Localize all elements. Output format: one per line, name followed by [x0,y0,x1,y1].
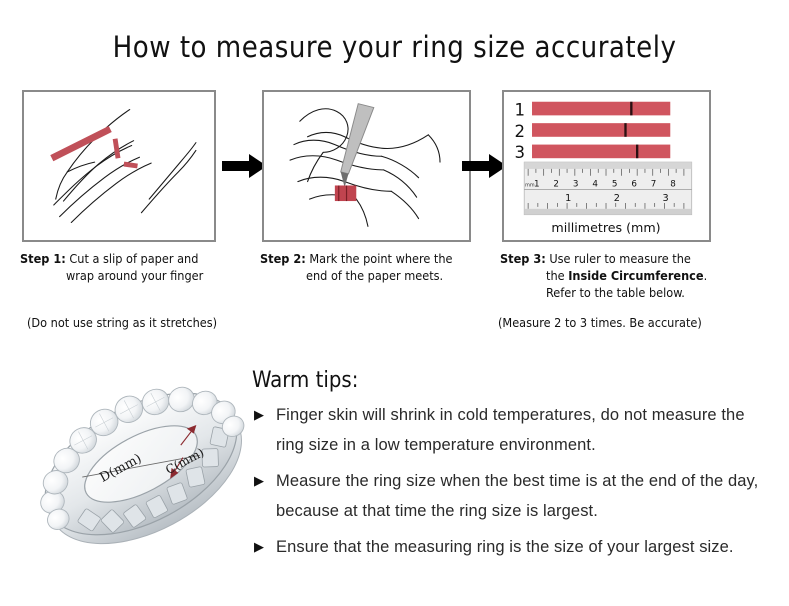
ruler-caption: millimetres (mm) [551,220,660,235]
svg-text:1: 1 [565,193,571,204]
step-1-panel [22,90,216,242]
svg-text:6: 6 [631,179,637,189]
svg-text:2: 2 [614,193,620,204]
step-1-line1: Cut a slip of paper and [69,251,198,266]
page-title: How to measure your ring size accurately [0,30,789,64]
warm-tips-heading: Warm tips: [252,368,358,393]
step-3-bold-phrase: Inside Circumference [568,268,703,283]
svg-text:4: 4 [592,179,598,189]
strip-number-2: 2 [514,122,525,141]
step-2-line1: Mark the point where the [309,251,452,266]
step-1-caption: Step 1: Cut a slip of paper and wrap aro… [20,250,255,284]
step-3-line1: Use ruler to measure the [549,251,691,266]
svg-text:8: 8 [670,179,676,189]
hand-marking-paper-with-pen-illustration [264,92,469,240]
step-3-line2-pre: the [546,268,568,283]
step-3-panel: 1 2 3 [502,90,711,242]
measured-strips: 1 2 3 [514,100,670,162]
step-3-note: (Measure 2 to 3 times. Be accurate) [498,315,702,330]
strip-number-1: 1 [514,100,525,119]
svg-text:3: 3 [573,179,579,189]
list-item: ▶ Ensure that the measuring ring is the … [252,532,772,562]
eternity-ring-photo: D(mm) C(mm) [22,352,260,584]
step-3-caption: Step 3: Use ruler to measure the the Ins… [500,250,750,301]
list-item: ▶ Finger skin will shrink in cold temper… [252,400,772,460]
hand-with-paper-strip-illustration [24,92,214,240]
mm-unit-label: mm [525,182,535,188]
tip-text: Finger skin will shrink in cold temperat… [276,406,745,454]
step-1-note: (Do not use string as it stretches) [27,315,217,330]
tip-text: Ensure that the measuring ring is the si… [276,538,734,556]
triangle-right-icon: ▶ [254,532,264,562]
step-3-label: Step 3: [500,251,546,266]
step-3-line2: the Inside Circumference. [500,267,750,284]
step-1-line2: wrap around your finger [20,267,255,284]
svg-text:1: 1 [534,179,540,189]
step-1-label: Step 1: [20,251,66,266]
svg-text:2: 2 [553,179,559,189]
svg-text:3: 3 [662,193,668,204]
step-3-line3: Refer to the table below. [500,284,750,301]
step-2-caption: Step 2: Mark the point where the end of … [260,250,495,284]
triangle-right-icon: ▶ [254,466,264,496]
ruler-with-measured-strips-illustration: 1 2 3 [504,92,709,240]
warm-tips-list: ▶ Finger skin will shrink in cold temper… [252,400,772,568]
tip-text: Measure the ring size when the best time… [276,472,758,520]
step-2-panel [262,90,471,242]
svg-text:5: 5 [612,179,618,189]
list-item: ▶ Measure the ring size when the best ti… [252,466,772,526]
step-3-line2-post: . [704,268,708,283]
strip-number-3: 3 [514,143,525,162]
svg-text:7: 7 [651,179,657,189]
step-2-line2: end of the paper meets. [260,267,495,284]
triangle-right-icon: ▶ [254,400,264,430]
ruler: 123 456 78 mm 123 [524,162,691,215]
step-2-label: Step 2: [260,251,306,266]
